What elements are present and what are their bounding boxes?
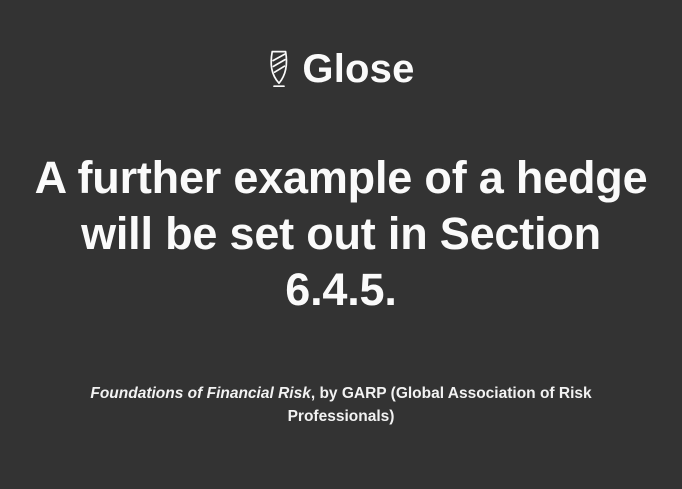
book-title: Foundations of Financial Risk [90, 385, 310, 402]
brand-lockup: Glose [267, 44, 414, 94]
quote-text: A further example of a hedge will be set… [21, 150, 661, 317]
leaf-bookmark-icon [267, 49, 291, 89]
attribution: Foundations of Financial Risk, by GARP (… [58, 383, 624, 428]
attribution-container: Foundations of Financial Risk, by GARP (… [58, 383, 624, 428]
attribution-source: , by GARP (Global Association of Risk Pr… [288, 385, 592, 424]
quote-container: A further example of a hedge will be set… [21, 150, 661, 317]
quote-card: Glose A further example of a hedge will … [0, 0, 682, 489]
brand-name: Glose [302, 49, 414, 89]
